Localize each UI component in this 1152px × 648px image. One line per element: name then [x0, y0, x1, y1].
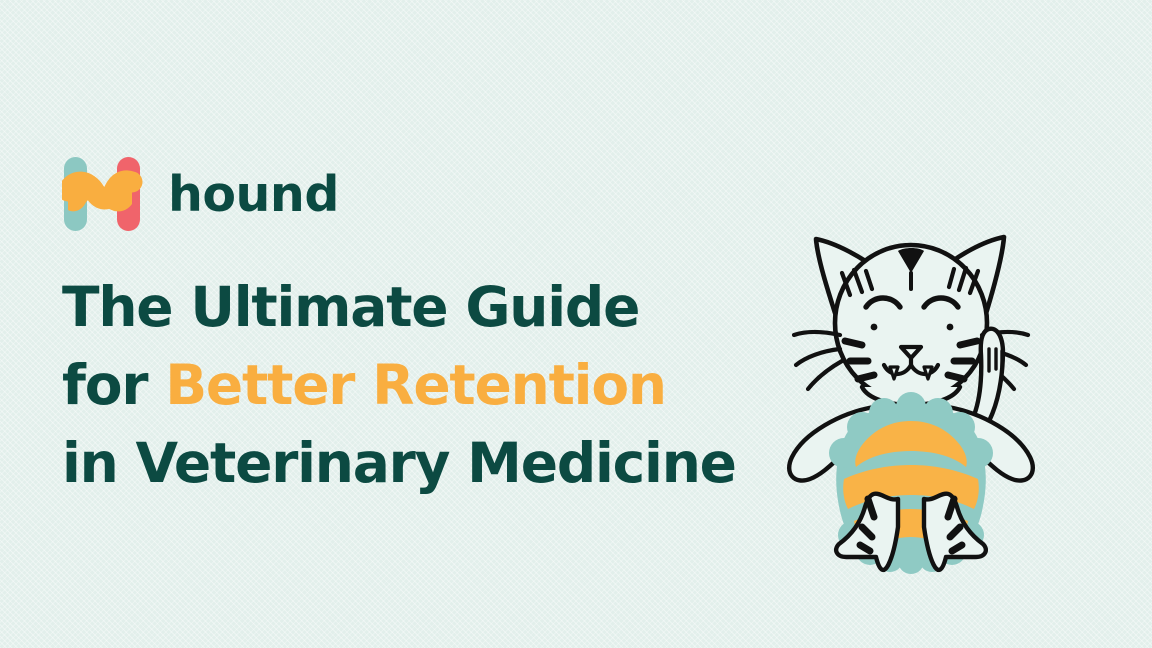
headline-line-2: for Better Retention: [62, 346, 762, 424]
brand-logo[interactable]: hound: [62, 155, 339, 233]
headline-accent-text: Better Retention: [165, 353, 666, 417]
headline-line-1: The Ultimate Guide: [62, 268, 762, 346]
page-title: The Ultimate Guide for Better Retention …: [62, 268, 762, 502]
hound-h-logo-mark: [62, 155, 146, 233]
headline-line-3: in Veterinary Medicine: [62, 424, 762, 502]
cat-illustration: [770, 155, 1080, 595]
brand-wordmark: hound: [168, 170, 339, 219]
cat-in-striped-tutu-drawing: [770, 155, 1080, 595]
slide-canvas: hound The Ultimate Guide for Better Rete…: [0, 0, 1152, 648]
headline-line-2-prefix: for: [62, 353, 165, 417]
